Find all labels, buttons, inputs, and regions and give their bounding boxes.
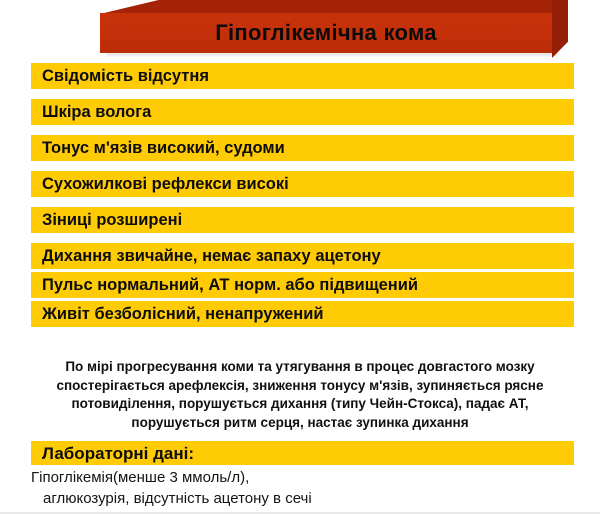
banner-front-face: Гіпоглікемічна кома [100, 13, 552, 53]
symptom-label: Сухожилкові рефлекси високі [42, 176, 289, 193]
symptom-bar: Пульс нормальний, АТ норм. або підвищени… [31, 272, 574, 298]
lab-data-heading-bar: Лабораторні дані: [31, 441, 574, 465]
symptom-label: Свідомість відсутня [42, 68, 209, 85]
symptom-bar: Сухожилкові рефлекси високі [31, 171, 574, 197]
symptom-bar: Дихання звичайне, немає запаху ацетону [31, 243, 574, 269]
paragraph-line: порушується ритм серця, настає зупинка д… [8, 414, 592, 433]
banner-side-bevel [552, 0, 568, 58]
symptom-bar: Шкіра волога [31, 99, 574, 125]
paragraph-line: По мірі прогресування коми та утягування… [8, 358, 592, 377]
progression-paragraph: По мірі прогресування коми та утягування… [0, 358, 600, 432]
paragraph-line: спостерігається арефлексія, зниження тон… [8, 377, 592, 396]
banner-top-bevel [100, 0, 568, 14]
lab-data-list: Гіпоглікемія(менше 3 ммоль/л), аглюкозур… [31, 467, 576, 509]
symptom-label: Живіт безболісний, ненапружений [42, 306, 324, 323]
page-title: Гіпоглікемічна кома [215, 22, 437, 44]
symptom-bar: Живіт безболісний, ненапружений [31, 301, 574, 327]
title-banner: Гіпоглікемічна кома [100, 0, 568, 58]
symptom-label: Дихання звичайне, немає запаху ацетону [42, 248, 381, 265]
symptom-bar: Свідомість відсутня [31, 63, 574, 89]
symptom-label: Зіниці розширені [42, 212, 182, 229]
lab-data-line: Гіпоглікемія(менше 3 ммоль/л), [31, 467, 576, 488]
symptom-bar: Тонус м'язів високий, судоми [31, 135, 574, 161]
symptom-label: Тонус м'язів високий, судоми [42, 140, 285, 157]
symptom-label: Пульс нормальний, АТ норм. або підвищени… [42, 277, 418, 294]
lab-data-heading: Лабораторні дані: [42, 445, 194, 462]
symptom-bar: Зіниці розширені [31, 207, 574, 233]
symptom-bar-list: Свідомість відсутня Шкіра волога Тонус м… [31, 63, 574, 330]
symptom-label: Шкіра волога [42, 104, 151, 121]
paragraph-line: потовиділення, порушується дихання (типу… [8, 395, 592, 414]
slide-root: Гіпоглікемічна кома Свідомість відсутня … [0, 0, 600, 514]
lab-data-line: аглюкозурія, відсутність ацетону в сечі [31, 488, 576, 509]
